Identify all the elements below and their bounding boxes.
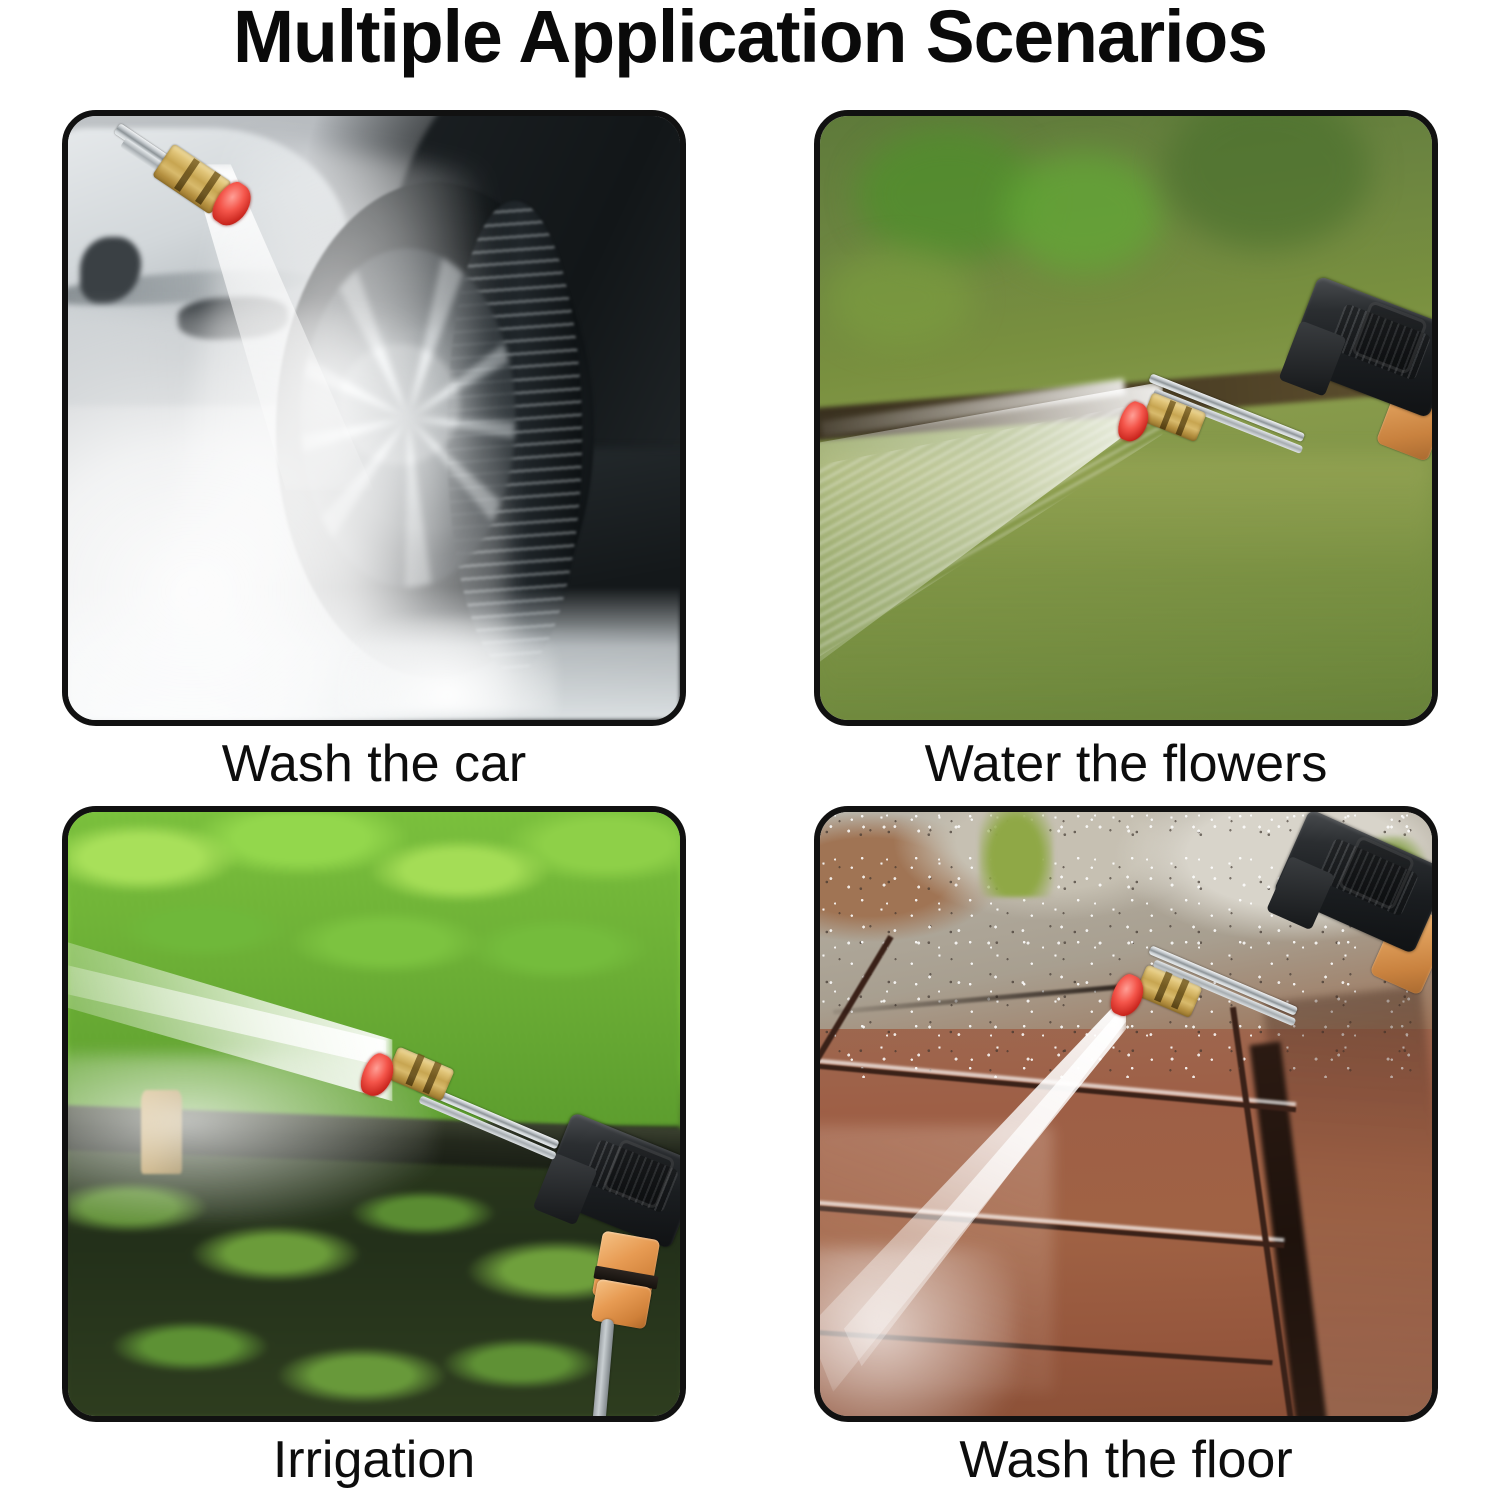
scenario-panel-water-the-flowers <box>814 110 1438 726</box>
scenario-panel-wash-the-car <box>62 110 686 726</box>
infographic-page: Multiple Application Scenarios <box>0 0 1500 1500</box>
panel-image-wash-the-car <box>68 116 680 720</box>
panel-image-wash-the-floor <box>820 812 1432 1416</box>
scenario-panel-wash-the-floor <box>814 806 1438 1422</box>
water-hose <box>593 1319 615 1416</box>
page-title: Multiple Application Scenarios <box>8 0 1493 78</box>
caption-water-the-flowers: Water the flowers <box>814 734 1438 794</box>
pressure-washer-gun <box>68 812 680 1416</box>
pressure-washer-gun <box>820 812 1432 1416</box>
caption-wash-the-car: Wash the car <box>62 734 686 794</box>
pressure-washer-nozzle <box>68 116 680 720</box>
lance-shadow-line <box>833 984 1126 1015</box>
caption-wash-the-floor: Wash the floor <box>814 1430 1438 1490</box>
scenario-panel-irrigation <box>62 806 686 1422</box>
pressure-washer-gun <box>820 116 1432 720</box>
panel-image-irrigation <box>68 812 680 1416</box>
panel-image-water-the-flowers <box>820 116 1432 720</box>
lance-tube-lower <box>418 1095 556 1160</box>
caption-irrigation: Irrigation <box>62 1430 686 1490</box>
